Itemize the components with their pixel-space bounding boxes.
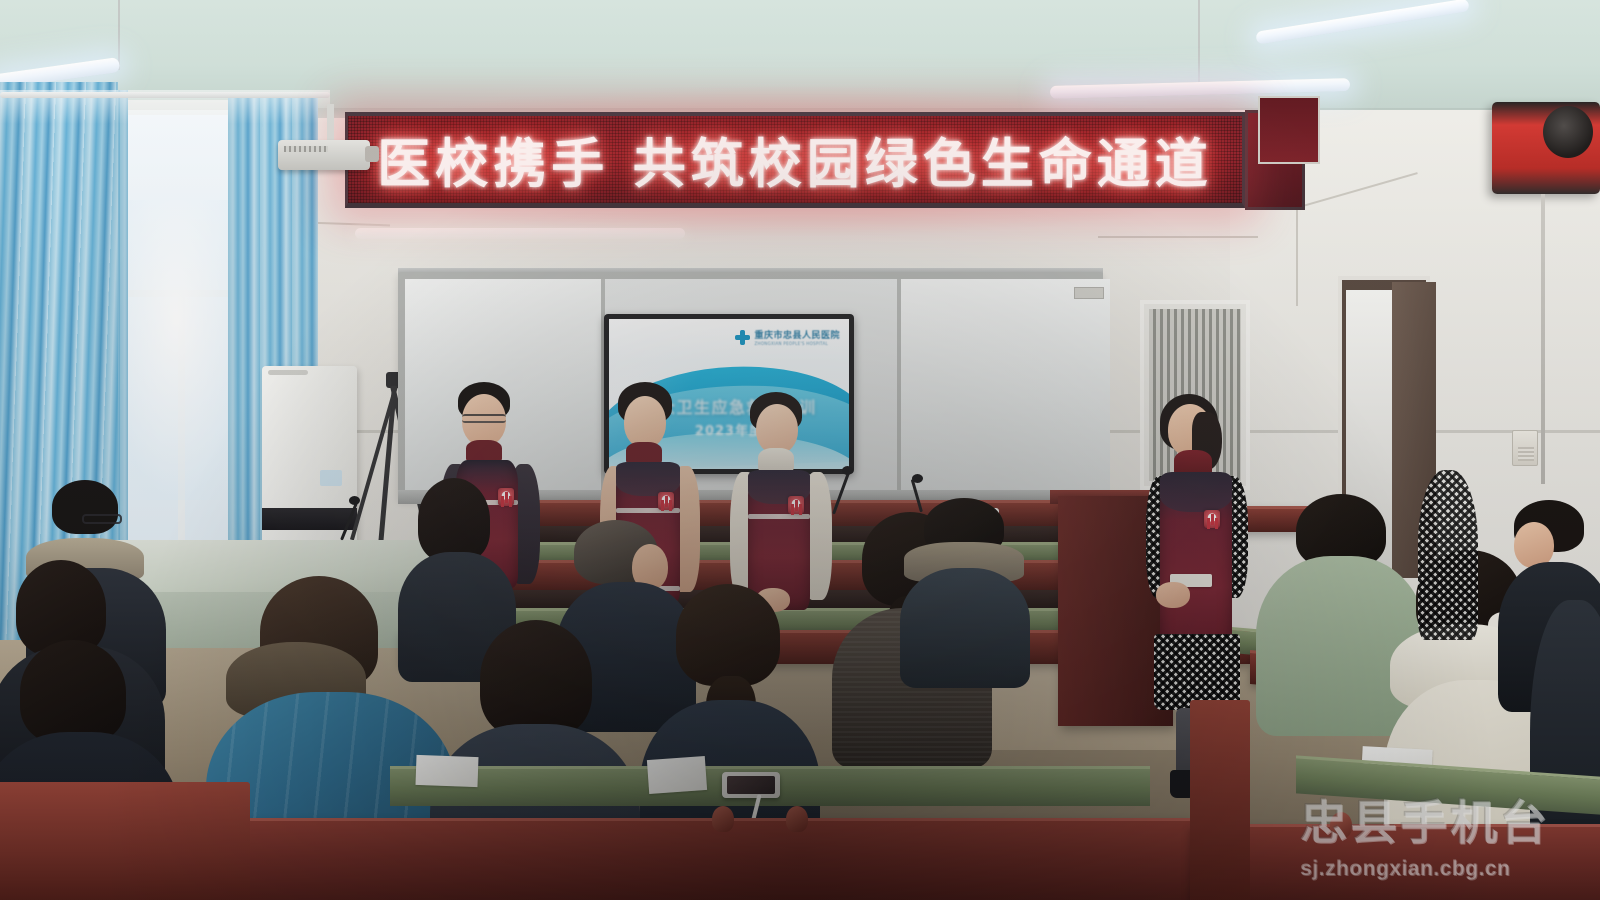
reflective-stripe (748, 514, 810, 519)
microphone-head (842, 466, 853, 475)
projector (278, 140, 370, 170)
torso (1418, 470, 1478, 640)
attendee-12 (1418, 470, 1478, 640)
skirt (1154, 634, 1240, 710)
desk-edge (1190, 700, 1250, 900)
photo-scene: 医校携手 共筑校园绿色生命通道 重庆市忠 (0, 0, 1600, 900)
vest-shoulder-dark (1160, 472, 1232, 512)
whiteboard-label (1074, 287, 1104, 299)
microphone-head (349, 496, 360, 505)
window-daylight-glow (120, 200, 245, 500)
red-cross-badge (788, 496, 804, 514)
vest-shoulder-dark (616, 462, 680, 496)
hair (418, 478, 490, 562)
speaker-conduit (1541, 194, 1545, 484)
attendee-10 (900, 498, 1030, 678)
speaker-cone (1543, 106, 1593, 158)
collar (466, 440, 502, 462)
torso (900, 568, 1030, 688)
collar (626, 442, 662, 464)
hair (480, 620, 592, 738)
hospital-logo: 重庆市忠县人民医院 ZHONGXIAN PEOPLE'S HOSPITAL (735, 328, 840, 346)
wall-speaker (1258, 96, 1320, 164)
whiteboard-panel (897, 279, 1110, 493)
light-hanger-wire (118, 0, 120, 70)
bench-knob (712, 806, 734, 832)
curtain-highlight (0, 90, 330, 124)
turtleneck-collar (758, 448, 794, 472)
led-banner: 医校携手 共筑校园绿色生命通道 (345, 112, 1245, 208)
hospital-name: 重庆市忠县人民医院 (754, 328, 840, 341)
phone-screen[interactable] (727, 776, 775, 794)
face (624, 396, 666, 448)
glasses (462, 414, 506, 423)
medical-cross-icon (735, 330, 750, 345)
hospital-name-en: ZHONGXIAN PEOPLE'S HOSPITAL (754, 341, 840, 346)
air-conditioner-badge (320, 470, 342, 486)
hair (676, 584, 780, 686)
air-conditioner-vent (262, 508, 357, 530)
projector-mount (327, 104, 334, 144)
wall-crack (1098, 236, 1258, 238)
paper-sheet (415, 755, 478, 787)
light-switch[interactable] (1512, 430, 1538, 466)
face (756, 404, 798, 454)
air-conditioner-top (268, 370, 308, 375)
red-cross-badge (658, 492, 674, 510)
red-cross-badge (1204, 510, 1220, 528)
bench-row-front (1190, 824, 1600, 900)
smartphone[interactable] (722, 772, 780, 798)
light-hanger-wire (1198, 0, 1200, 84)
projector-vent (284, 146, 328, 152)
bench-knob (1330, 812, 1352, 838)
hair (20, 640, 126, 744)
paper-sheet (647, 756, 707, 794)
bench-knob (786, 806, 808, 832)
ceiling-light (355, 228, 685, 239)
glasses (82, 514, 122, 524)
hands (1156, 582, 1190, 608)
led-banner-text: 医校携手 共筑校园绿色生命通道 (377, 122, 1212, 198)
desk-edge (0, 782, 250, 900)
bench-row-front (190, 818, 1190, 900)
microphone-head (912, 474, 923, 483)
